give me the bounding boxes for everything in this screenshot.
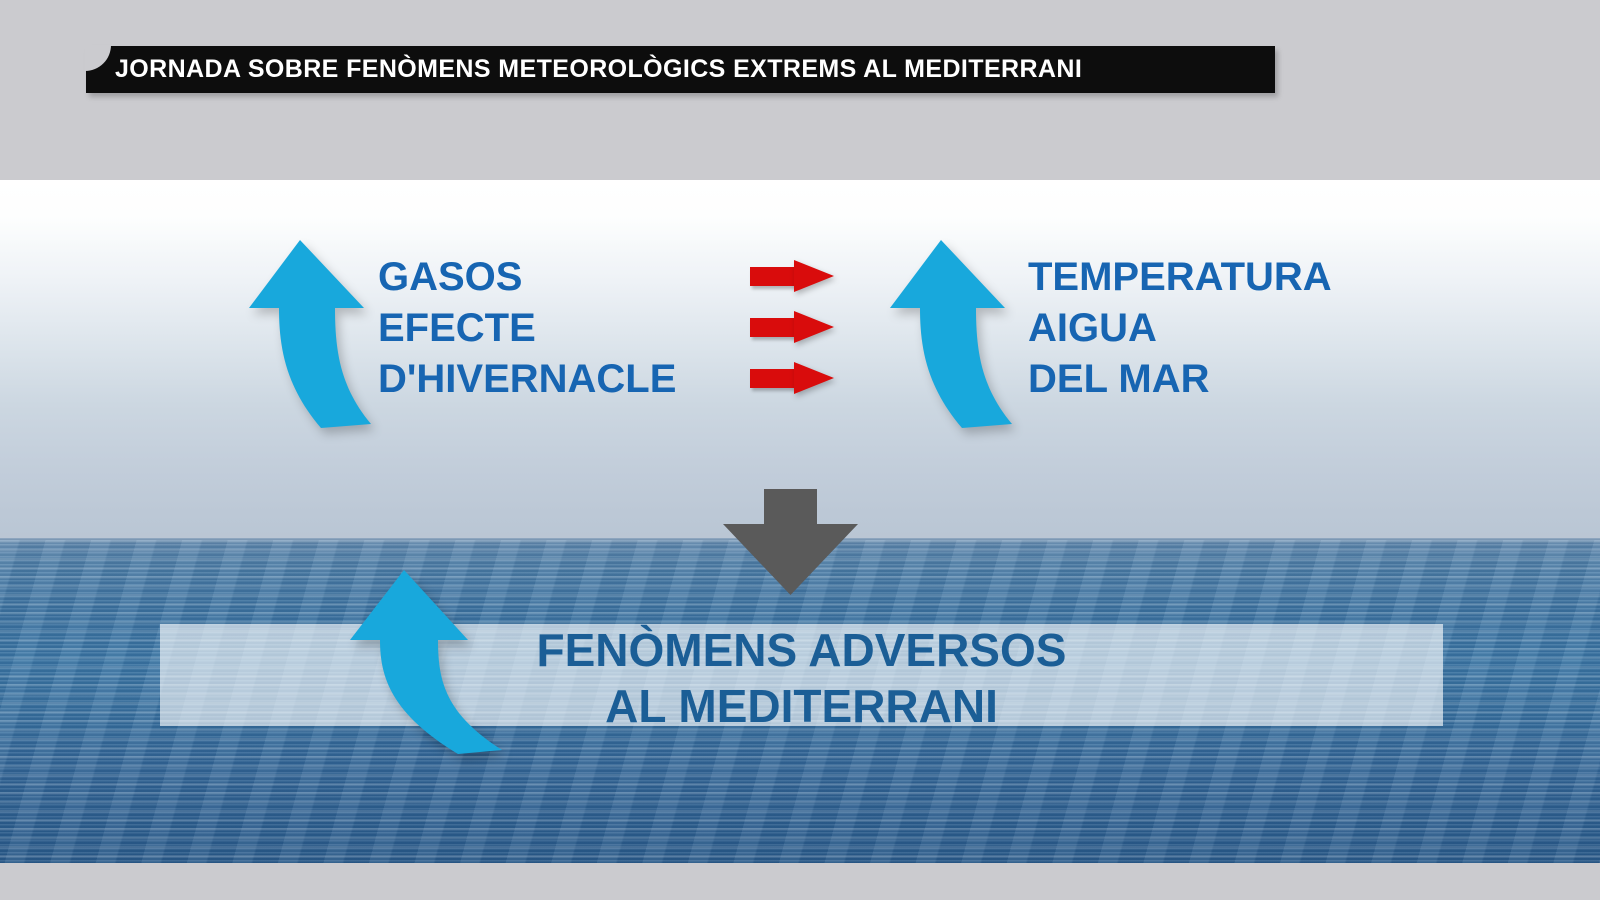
title-banner: JORNADA SOBRE FENÒMENS METEOROLÒGICS EXT… (86, 46, 1275, 93)
red-arrow-head (794, 260, 834, 292)
right-cause-line-3: DEL MAR (1028, 354, 1332, 405)
red-arrow-head (794, 362, 834, 394)
grey-down-arrow-icon (723, 489, 858, 595)
curved-up-arrow-icon (884, 228, 1014, 428)
curved-up-arrow-icon (243, 228, 373, 428)
left-cause-line-1: GASOS (378, 252, 676, 303)
left-cause-line-2: EFECTE (378, 303, 676, 354)
red-right-arrow-icon (750, 362, 834, 394)
outcome-line-1: FENÒMENS ADVERSOS (160, 622, 1443, 678)
red-right-arrow-icon (750, 260, 834, 292)
left-cause-label: GASOS EFECTE D'HIVERNACLE (378, 252, 676, 405)
red-arrow-shaft (750, 369, 798, 388)
left-cause-line-3: D'HIVERNACLE (378, 354, 676, 405)
outcome-label: FENÒMENS ADVERSOS AL MEDITERRANI (160, 622, 1443, 734)
slide-canvas: JORNADA SOBRE FENÒMENS METEOROLÒGICS EXT… (0, 0, 1600, 900)
red-arrow-shaft (750, 318, 798, 337)
right-cause-label: TEMPERATURA AIGUA DEL MAR (1028, 252, 1332, 405)
right-cause-line-2: AIGUA (1028, 303, 1332, 354)
outcome-line-2: AL MEDITERRANI (160, 678, 1443, 734)
page-title: JORNADA SOBRE FENÒMENS METEOROLÒGICS EXT… (115, 55, 1082, 84)
red-right-arrow-icon (750, 311, 834, 343)
red-arrow-shaft (750, 267, 798, 286)
red-arrow-head (794, 311, 834, 343)
sky-region (0, 180, 1600, 542)
right-cause-line-1: TEMPERATURA (1028, 252, 1332, 303)
